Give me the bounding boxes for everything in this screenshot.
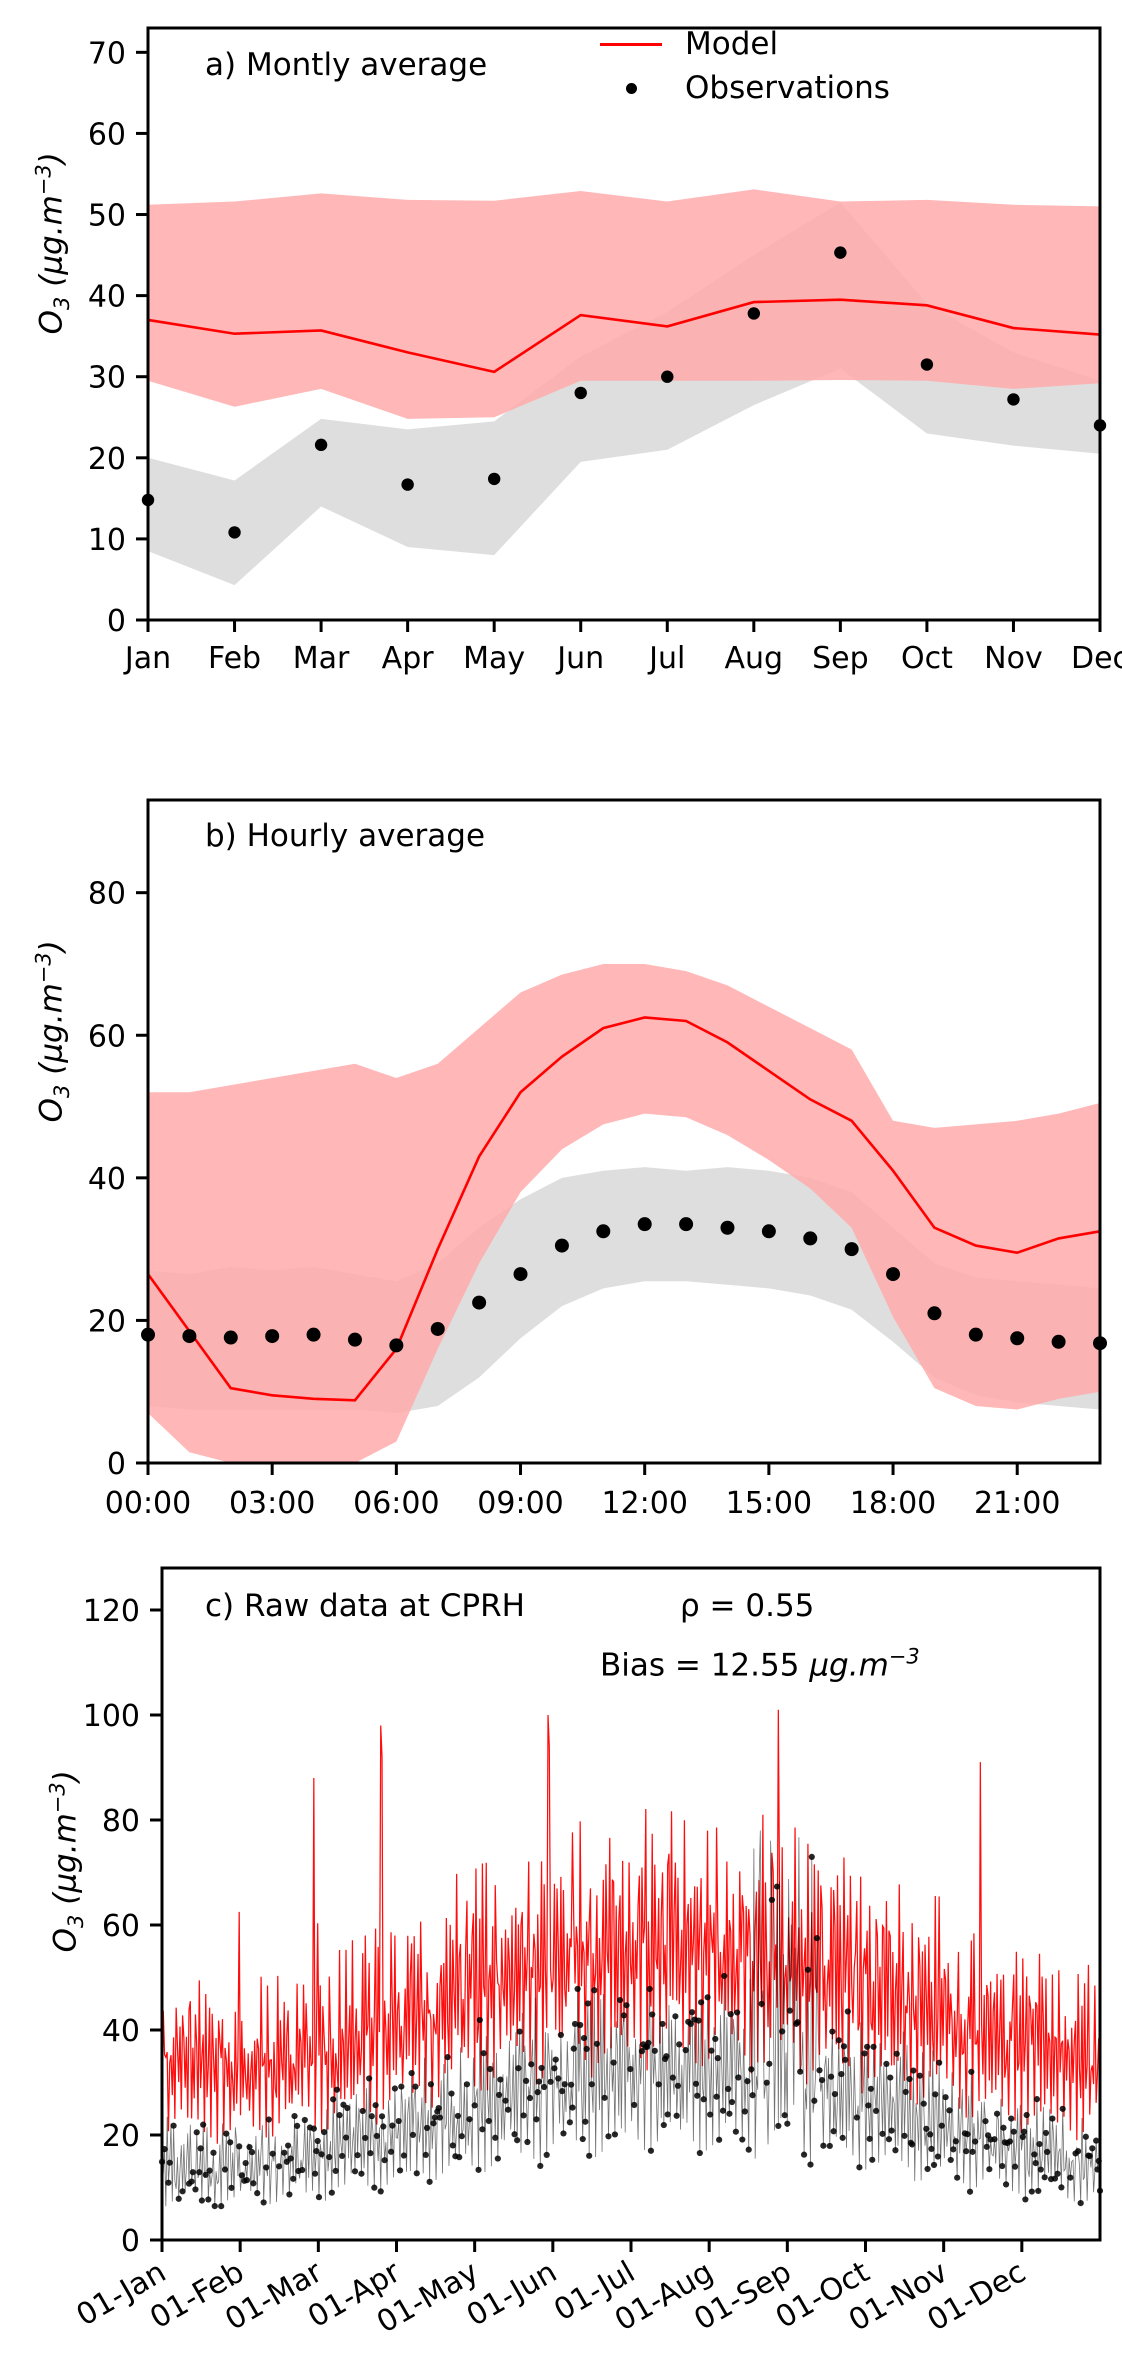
panel-c-observation-point <box>205 2196 211 2202</box>
panel-c-observation-point <box>401 2152 407 2158</box>
panel-c-observation-point <box>326 2154 332 2160</box>
panel-a-observation-point <box>488 473 500 485</box>
panel-c-observation-point <box>903 2089 909 2095</box>
panel-c-observation-point <box>864 2044 870 2050</box>
panel-c-observation-point <box>179 2188 185 2194</box>
panel-c-observation-point <box>1043 2130 1049 2136</box>
panel-c-observation-point <box>424 2125 430 2131</box>
panel-c-observation-point <box>672 2013 678 2019</box>
panel-c-observation-point <box>928 2146 934 2152</box>
panel-a-observation-point <box>575 387 587 399</box>
panel-c-observation-point <box>396 2118 402 2124</box>
panel-c-observation-point <box>782 2112 788 2118</box>
panel-c-observation-point <box>412 2084 418 2090</box>
panel-c-observation-point <box>196 2169 202 2175</box>
panel-c-observation-point <box>701 2096 707 2102</box>
panel-c-observation-point <box>333 2168 339 2174</box>
panel-c-observation-point <box>927 2131 933 2137</box>
panel-c-observation-point <box>939 2123 945 2129</box>
panel-c-observation-point <box>729 2099 735 2105</box>
panel-a-observation-point <box>1007 393 1019 405</box>
panel-c-observation-point <box>466 2116 472 2122</box>
panel-c-observation-point <box>410 2132 416 2138</box>
panel-c-observation-point <box>218 2203 224 2209</box>
panel-c-observation-point <box>764 2080 770 2086</box>
panel-c-observation-point <box>448 2090 454 2096</box>
panel-c-observation-point <box>970 2149 976 2155</box>
panel-c-observation-point <box>360 2108 366 2114</box>
panel-c-observation-point <box>524 2139 530 2145</box>
panel-c-observation-point <box>769 1897 775 1903</box>
panel-c-observation-point <box>617 1997 623 2003</box>
panel-c-observation-point <box>392 2085 398 2091</box>
panel-c-observation-point <box>887 2074 893 2080</box>
panel-c-observation-point <box>194 2129 200 2135</box>
panel-c-observation-point <box>318 2151 324 2157</box>
panel-c-observation-point <box>228 2185 234 2191</box>
panel-c-observation-point <box>170 2123 176 2129</box>
panel-c-observation-point <box>428 2081 434 2087</box>
panel-c-observation-point <box>694 2093 700 2099</box>
panel-b-observation-point <box>720 1221 734 1235</box>
panel-c-observation-point <box>963 2148 969 2154</box>
panel-c-observation-point <box>200 2122 206 2128</box>
panel-c-observation-point <box>455 2113 461 2119</box>
panel-c-observation-point <box>553 2057 559 2063</box>
panel-b-observation-point <box>224 1331 238 1345</box>
panel-c-observation-point <box>917 2073 923 2079</box>
panel-c-observation-point <box>487 2066 493 2072</box>
panel-c-observation-point <box>831 2128 837 2134</box>
panel-c-observation-point <box>704 1994 710 2000</box>
panel-c-observation-point <box>511 2131 517 2137</box>
panel-c-observation-point <box>1035 2188 1041 2194</box>
panel-c-observation-point <box>645 2040 651 2046</box>
panel-c-observation-point <box>612 2131 618 2137</box>
panel-c-observation-point <box>906 2076 912 2082</box>
panel-a-x-tick-label: May <box>463 641 525 676</box>
panel-c-observation-point <box>888 2127 894 2133</box>
panel-c-observation-point <box>536 2078 542 2084</box>
panel-c-plot: 02040608010012001-Jan01-Feb01-Mar01-Apr0… <box>0 1540 1122 2362</box>
panel-c-observation-point <box>569 2105 575 2111</box>
panel-c-observation-point <box>814 1935 820 1941</box>
panel-c-observation-point <box>263 2164 269 2170</box>
panel-b-observation-point <box>265 1329 279 1343</box>
panel-c-observation-point <box>288 2155 294 2161</box>
panel-c-observation-point <box>867 2136 873 2142</box>
panel-c-observation-point <box>967 2189 973 2195</box>
panel-c-observation-point <box>1083 2134 1089 2140</box>
panel-a-x-tick-label: Mar <box>293 641 350 676</box>
panel-c-observation-point <box>505 2107 511 2113</box>
panel-c-observation-point <box>290 2176 296 2182</box>
panel-c-observation-point <box>551 2065 557 2071</box>
panel-c-observation-point <box>656 2081 662 2087</box>
panel-a-y-tick-label: 60 <box>88 117 126 152</box>
panel-a-x-tick-label: Jun <box>555 641 604 676</box>
panel-c-observation-point <box>811 2098 817 2104</box>
panel-b-observation-point <box>679 1217 693 1231</box>
panel-c-observation-point <box>946 2107 952 2113</box>
panel-b-observation-point <box>182 1329 196 1343</box>
panel-c-observation-point <box>165 2180 171 2186</box>
panel-c-observation-point <box>725 2086 731 2092</box>
panel-c-observation-point <box>571 2046 577 2052</box>
panel-c-observation-point <box>520 2112 526 2118</box>
panel-c-observation-point <box>854 2114 860 2120</box>
panel-c-observation-point <box>188 2178 194 2184</box>
panel-c-observation-point <box>414 2170 420 2176</box>
panel-c-observation-point <box>538 2065 544 2071</box>
panel-c-observation-point <box>535 2089 541 2095</box>
panel-c-observation-point <box>676 2041 682 2047</box>
panel-c-observation-point <box>698 1999 704 2005</box>
panel-c-observation-point <box>712 2036 718 2042</box>
panel-c-observation-point <box>1060 2106 1066 2112</box>
panel-c-observation-point <box>366 2075 372 2081</box>
panel-b-observation-point <box>596 1224 610 1238</box>
panel-c-observation-point <box>436 2105 442 2111</box>
panel-a-x-tick-label: Apr <box>382 641 435 676</box>
panel-c-observation-point <box>362 2135 368 2141</box>
panel-c-observation-point <box>437 2114 443 2120</box>
panel-c-observation-point <box>492 2135 498 2141</box>
panel-c-observation-point <box>749 2092 755 2098</box>
figure-root: O3 (μg.m−3) a) Montly average Model Obse… <box>0 0 1122 2362</box>
panel-c-observation-point <box>838 2071 844 2077</box>
panel-c-observation-point <box>1012 2164 1018 2170</box>
panel-c-y-tick-label: 80 <box>102 1804 140 1839</box>
panel-c-observation-point <box>371 2185 377 2191</box>
panel-a-x-tick-label: Jan <box>123 641 171 676</box>
panel-c-observation-point <box>580 2136 586 2142</box>
panel-b-y-tick-label: 20 <box>88 1304 126 1339</box>
panel-c-observation-point <box>286 2191 292 2197</box>
panel-c-observation-point <box>832 2091 838 2097</box>
panel-b-observation-point <box>927 1306 941 1320</box>
panel-a-observation-point <box>921 358 933 370</box>
panel-c-observation-point <box>836 2037 842 2043</box>
panel-c-observation-point <box>734 2009 740 2015</box>
panel-c-observation-point <box>1007 2138 1013 2144</box>
panel-c-observation-point <box>568 2082 574 2088</box>
panel-c-observation-point <box>207 2168 213 2174</box>
panel-a-x-tick-label: Oct <box>901 641 953 676</box>
panel-c-observation-point <box>537 2163 543 2169</box>
panel-c-observation-point <box>1029 2188 1035 2194</box>
panel-c-observation-point <box>577 2022 583 2028</box>
panel-c-observation-point <box>602 2095 608 2101</box>
panel-c-observation-point <box>445 2054 451 2060</box>
panel-c-observation-point <box>427 2179 433 2185</box>
panel-c-observation-point <box>784 2121 790 2127</box>
panel-c-observation-point <box>555 2075 561 2081</box>
panel-c-observation-point <box>586 2153 592 2159</box>
panel-c-observation-point <box>575 1986 581 1992</box>
panel-c-observation-point <box>276 2163 282 2169</box>
panel-c-observation-point <box>697 2150 703 2156</box>
panel-c-y-tick-label: 100 <box>83 1699 140 1734</box>
panel-c-observation-point <box>378 2188 384 2194</box>
panel-c-observation-point <box>842 2057 848 2063</box>
panel-c-observation-point <box>742 2108 748 2114</box>
panel-c-observation-point <box>861 2050 867 2056</box>
panel-c-observation-point <box>311 2126 317 2132</box>
panel-c-observation-point <box>901 2133 907 2139</box>
panel-c-observation-point <box>212 2203 218 2209</box>
panel-c-y-tick-label: 40 <box>102 2014 140 2049</box>
panel-c-observation-point <box>1058 2184 1064 2190</box>
panel-c-observation-point <box>261 2199 267 2205</box>
panel-c-observation-point <box>923 2126 929 2132</box>
panel-a-y-tick-label: 70 <box>88 36 126 71</box>
panel-b-observation-point <box>886 1267 900 1281</box>
panel-c-observation-point <box>779 2028 785 2034</box>
panel-c-observation-point <box>1078 2200 1084 2206</box>
panel-c-observation-point <box>382 2157 388 2163</box>
panel-c-observation-point <box>999 2163 1005 2169</box>
panel-c-observation-point <box>931 2162 937 2168</box>
panel-c-observation-point <box>544 2152 550 2158</box>
panel-a-y-tick-label: 40 <box>88 280 126 315</box>
panel-c-observation-point <box>910 2067 916 2073</box>
panel-c-observation-point <box>558 2032 564 2038</box>
panel-c-observation-point <box>948 2157 954 2163</box>
panel-c-observation-point <box>652 2048 658 2054</box>
panel-c-observation-point <box>972 2138 978 2144</box>
panel-c-observation-point <box>936 2060 942 2066</box>
panel-c-observation-point <box>281 2150 287 2156</box>
panel-c-observation-point <box>198 2145 204 2151</box>
panel-c-observation-point <box>909 2141 915 2147</box>
panel-c-observation-point <box>708 2048 714 2054</box>
panel-c-observation-point <box>611 2059 617 2065</box>
panel-b-observation-point <box>762 1224 776 1238</box>
panel-b-plot: 02040608000:0003:0006:0009:0012:0015:001… <box>0 760 1122 1540</box>
panel-c-observation-point <box>285 2142 291 2148</box>
panel-c-observation-point <box>223 2131 229 2137</box>
panel-c-observation-point <box>210 2150 216 2156</box>
panel-c-observation-point <box>459 2133 465 2139</box>
panel-c-y-tick-label: 60 <box>102 1909 140 1944</box>
panel-c-observation-point <box>372 2102 378 2108</box>
panel-c-raw-data: O3 (μg.m−3) c) Raw data at CPRH ρ = 0.55… <box>0 1540 1122 2362</box>
panel-c-observation-point <box>312 2171 318 2177</box>
panel-c-observation-point <box>735 2074 741 2080</box>
panel-b-observation-point <box>348 1333 362 1347</box>
panel-c-observation-point <box>344 2105 350 2111</box>
panel-c-observation-point <box>239 2172 245 2178</box>
panel-c-observation-point <box>720 2108 726 2114</box>
panel-c-observation-point <box>409 2070 415 2076</box>
panel-c-observation-point <box>430 2120 436 2126</box>
panel-c-observation-point <box>774 1883 780 1889</box>
panel-c-observation-point <box>336 2112 342 2118</box>
panel-c-observation-point <box>302 2117 308 2123</box>
panel-c-observation-point <box>746 2147 752 2153</box>
panel-c-observation-point <box>935 2153 941 2159</box>
panel-c-observation-point <box>456 2154 462 2160</box>
panel-c-model-timeseries <box>162 1710 1100 2144</box>
panel-c-observation-point <box>856 2164 862 2170</box>
panel-c-observation-point <box>827 2143 833 2149</box>
panel-c-observation-point <box>953 2138 959 2144</box>
panel-c-observation-point <box>1054 2171 1060 2177</box>
panel-c-observation-point <box>695 2017 701 2023</box>
panel-c-observation-point <box>805 1967 811 1973</box>
panel-c-observation-point <box>943 2094 949 2100</box>
panel-c-observation-point <box>819 2077 825 2083</box>
panel-c-observation-point <box>176 2196 182 2202</box>
panel-c-observation-point <box>801 2152 807 2158</box>
panel-c-observation-point <box>631 2102 637 2108</box>
panel-a-x-tick-label: Sep <box>812 641 869 676</box>
panel-c-observation-point <box>670 2075 676 2081</box>
panel-c-observation-point <box>1020 2134 1026 2140</box>
panel-c-observation-point <box>649 2011 655 2017</box>
panel-c-observation-point <box>475 2167 481 2173</box>
panel-c-observation-point <box>954 2175 960 2181</box>
panel-b-observation-point <box>431 1322 445 1336</box>
panel-c-observation-point <box>567 2119 573 2125</box>
panel-c-observation-point <box>1033 2160 1039 2166</box>
panel-c-observation-point <box>865 2102 871 2108</box>
panel-c-observation-point <box>423 2152 429 2158</box>
panel-b-y-tick-label: 0 <box>107 1447 126 1482</box>
panel-c-observation-point <box>1008 2116 1014 2122</box>
panel-b-observation-point <box>555 1239 569 1253</box>
panel-a-y-tick-label: 50 <box>88 199 126 234</box>
panel-a-x-tick-label: Jul <box>647 641 685 676</box>
panel-c-observation-point <box>868 2086 874 2092</box>
panel-c-observation-point <box>716 2137 722 2143</box>
panel-c-observation-point <box>683 2047 689 2053</box>
panel-c-observation-point <box>479 2126 485 2132</box>
panel-b-observation-point <box>1010 1331 1024 1345</box>
panel-a-y-tick-label: 20 <box>88 442 126 477</box>
panel-c-observation-point <box>1089 2145 1095 2151</box>
panel-c-observation-point <box>1034 2096 1040 2102</box>
panel-c-observation-point <box>984 2144 990 2150</box>
panel-c-observation-point <box>502 2098 508 2104</box>
panel-c-observation-point <box>809 1854 815 1860</box>
panel-c-observation-point <box>892 2147 898 2153</box>
panel-c-observation-point <box>1093 2138 1099 2144</box>
panel-c-observation-point <box>1049 2115 1055 2121</box>
panel-c-observation-point <box>894 2051 900 2057</box>
panel-c-observation-point <box>621 2012 627 2018</box>
panel-c-observation-point <box>515 2065 521 2071</box>
panel-c-y-tick-label: 0 <box>121 2224 140 2259</box>
panel-c-observation-point <box>591 1987 597 1993</box>
panel-c-observation-point <box>713 2094 719 2100</box>
panel-c-observation-point <box>924 2166 930 2172</box>
panel-c-observation-point <box>559 2088 565 2094</box>
panel-c-observation-point <box>294 2123 300 2129</box>
panel-c-observation-point <box>1067 2175 1073 2181</box>
panel-c-observation-point <box>932 2091 938 2097</box>
panel-c-observation-point <box>450 2142 456 2148</box>
panel-c-observation-point <box>744 2078 750 2084</box>
panel-c-observation-point <box>739 2136 745 2142</box>
panel-c-observation-point <box>840 2135 846 2141</box>
panel-c-observation-point <box>689 2009 695 2015</box>
panel-c-observation-point <box>358 2171 364 2177</box>
panel-c-y-tick-label: 20 <box>102 2119 140 2154</box>
panel-c-observation-point <box>321 2129 327 2135</box>
panel-c-observation-point <box>334 2087 340 2093</box>
panel-c-observation-point <box>986 2166 992 2172</box>
panel-c-observation-point <box>665 2111 671 2117</box>
panel-c-observation-point <box>807 2162 813 2168</box>
panel-b-observation-point <box>514 1267 528 1281</box>
panel-c-observation-point <box>1036 2141 1042 2147</box>
panel-a-monthly-average: O3 (μg.m−3) a) Montly average Model Obse… <box>0 0 1122 700</box>
panel-a-observation-point <box>834 246 846 258</box>
panel-c-observation-point <box>968 2069 974 2075</box>
panel-b-x-tick-label: 15:00 <box>726 1486 812 1521</box>
panel-c-observation-point <box>623 2002 629 2008</box>
panel-c-observation-point <box>964 2131 970 2137</box>
panel-b-x-tick-label: 03:00 <box>229 1486 315 1521</box>
panel-c-observation-point <box>486 2118 492 2124</box>
panel-c-observation-point <box>517 2028 523 2034</box>
panel-a-observation-point <box>661 371 673 383</box>
panel-a-observation-point <box>315 439 327 451</box>
panel-c-observation-point <box>585 2000 591 2006</box>
panel-c-observation-point <box>481 2050 487 2056</box>
panel-a-observation-point <box>401 478 413 490</box>
panel-c-observation-point <box>675 2083 681 2089</box>
panel-c-observation-point <box>315 2138 321 2144</box>
panel-c-observation-point <box>820 2143 826 2149</box>
panel-c-observation-point <box>886 2136 892 2142</box>
panel-c-observation-point <box>236 2143 242 2149</box>
panel-c-observation-point <box>581 2035 587 2041</box>
panel-c-observation-point <box>582 2119 588 2125</box>
panel-c-observation-point <box>748 2066 754 2072</box>
panel-c-observation-point <box>199 2197 205 2203</box>
panel-c-observation-point <box>873 2108 879 2114</box>
panel-b-observation-point <box>969 1328 983 1342</box>
panel-c-observation-point <box>497 2076 503 2082</box>
panel-c-observation-point <box>254 2190 260 2196</box>
panel-c-observation-point <box>472 2102 478 2108</box>
panel-c-observation-point <box>879 2131 885 2137</box>
panel-c-observation-point <box>991 2136 997 2142</box>
panel-a-observation-point <box>748 307 760 319</box>
panel-c-observation-point <box>190 2169 196 2175</box>
panel-c-observation-point <box>343 2134 349 2140</box>
panel-c-observation-point <box>299 2167 305 2173</box>
panel-c-observation-point <box>1075 2148 1081 2154</box>
panel-c-observation-point <box>316 2194 322 2200</box>
panel-c-observation-point <box>244 2177 250 2183</box>
panel-a-x-tick-label: Nov <box>984 641 1043 676</box>
panel-c-observation-point <box>547 2079 553 2085</box>
panel-c-observation-point <box>659 2021 665 2027</box>
panel-c-observation-point <box>329 2190 335 2196</box>
panel-b-observation-point <box>307 1328 321 1342</box>
panel-c-observation-point <box>330 2096 336 2102</box>
panel-c-observation-point <box>1022 2196 1028 2202</box>
panel-c-observation-point <box>541 2084 547 2090</box>
panel-c-observation-point <box>313 2148 319 2154</box>
panel-c-observation-point <box>693 2081 699 2087</box>
panel-c-observation-point <box>594 2041 600 2047</box>
panel-c-observation-point <box>797 2069 803 2075</box>
